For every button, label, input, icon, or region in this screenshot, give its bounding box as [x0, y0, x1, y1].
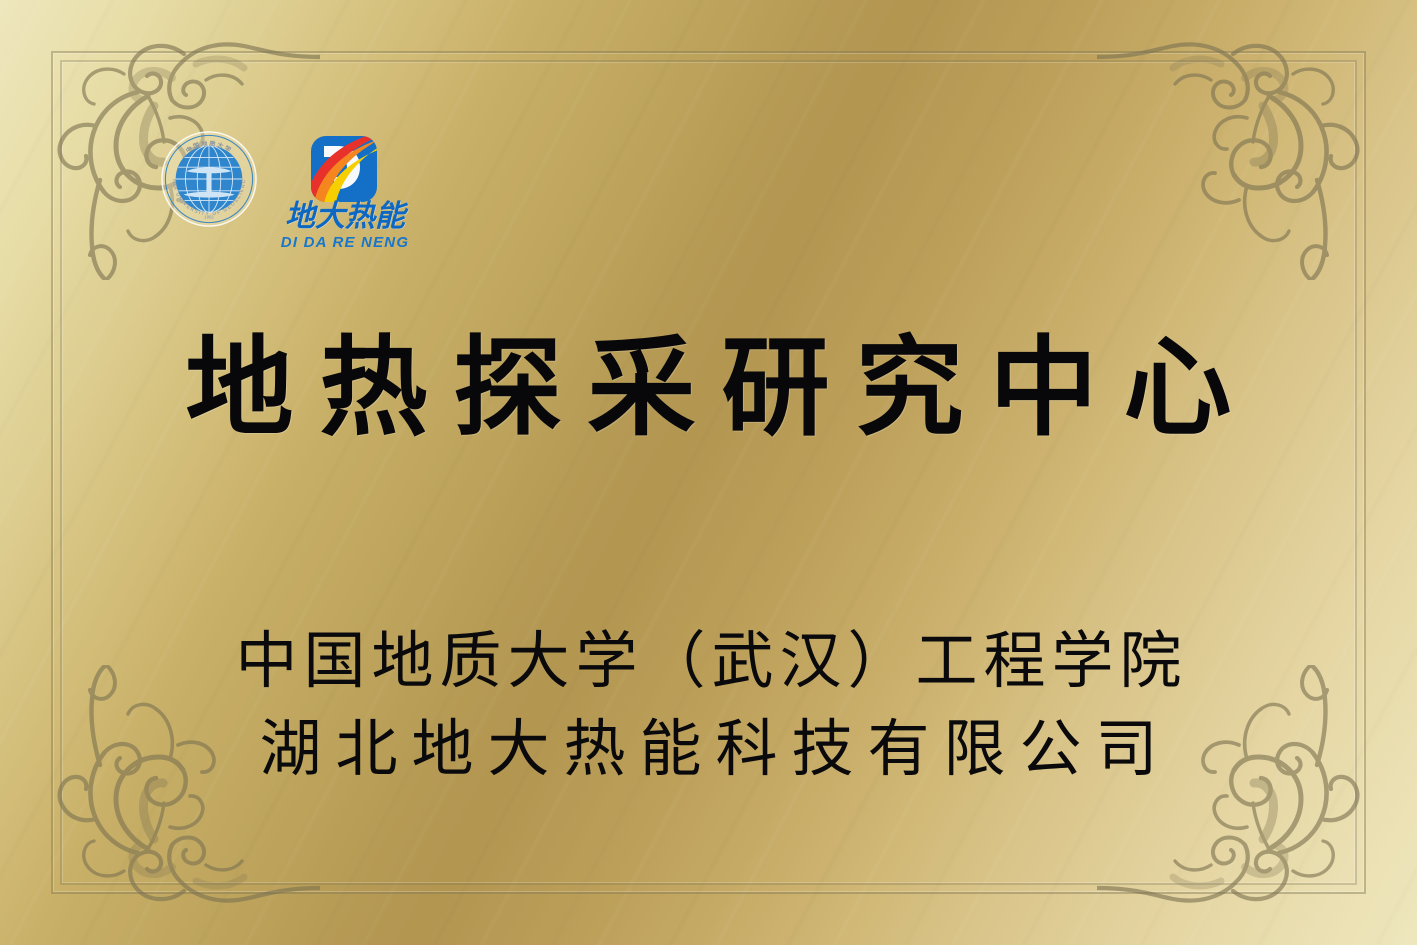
logo-row: 中国地质大学 CHINA UNIVERSITY OF GEOSCIENCES 1…	[160, 130, 410, 250]
svg-text:1952: 1952	[204, 215, 214, 220]
didareneng-logo-icon	[280, 134, 410, 204]
brand-name-en: DI DA RE NENG	[281, 235, 409, 250]
page-title: 地热探采研究中心	[0, 330, 1417, 447]
subtitle-line-2: 湖北地大热能科技有限公司	[0, 706, 1417, 794]
brand-name-cn: 地大热能	[285, 202, 405, 232]
subtitle-line-1: 中国地质大学（武汉）工程学院	[0, 618, 1417, 706]
china-university-of-geosciences-seal-icon: 中国地质大学 CHINA UNIVERSITY OF GEOSCIENCES 1…	[160, 130, 258, 228]
plaque: 中国地质大学 CHINA UNIVERSITY OF GEOSCIENCES 1…	[0, 0, 1417, 945]
university-seal-logo: 中国地质大学 CHINA UNIVERSITY OF GEOSCIENCES 1…	[160, 130, 258, 228]
corner-flourish-icon-top-right	[1097, 10, 1397, 280]
didareneng-brand-lockup: 地大热能 DI DA RE NENG	[280, 134, 410, 250]
subtitle-block: 中国地质大学（武汉）工程学院 湖北地大热能科技有限公司	[0, 618, 1417, 794]
